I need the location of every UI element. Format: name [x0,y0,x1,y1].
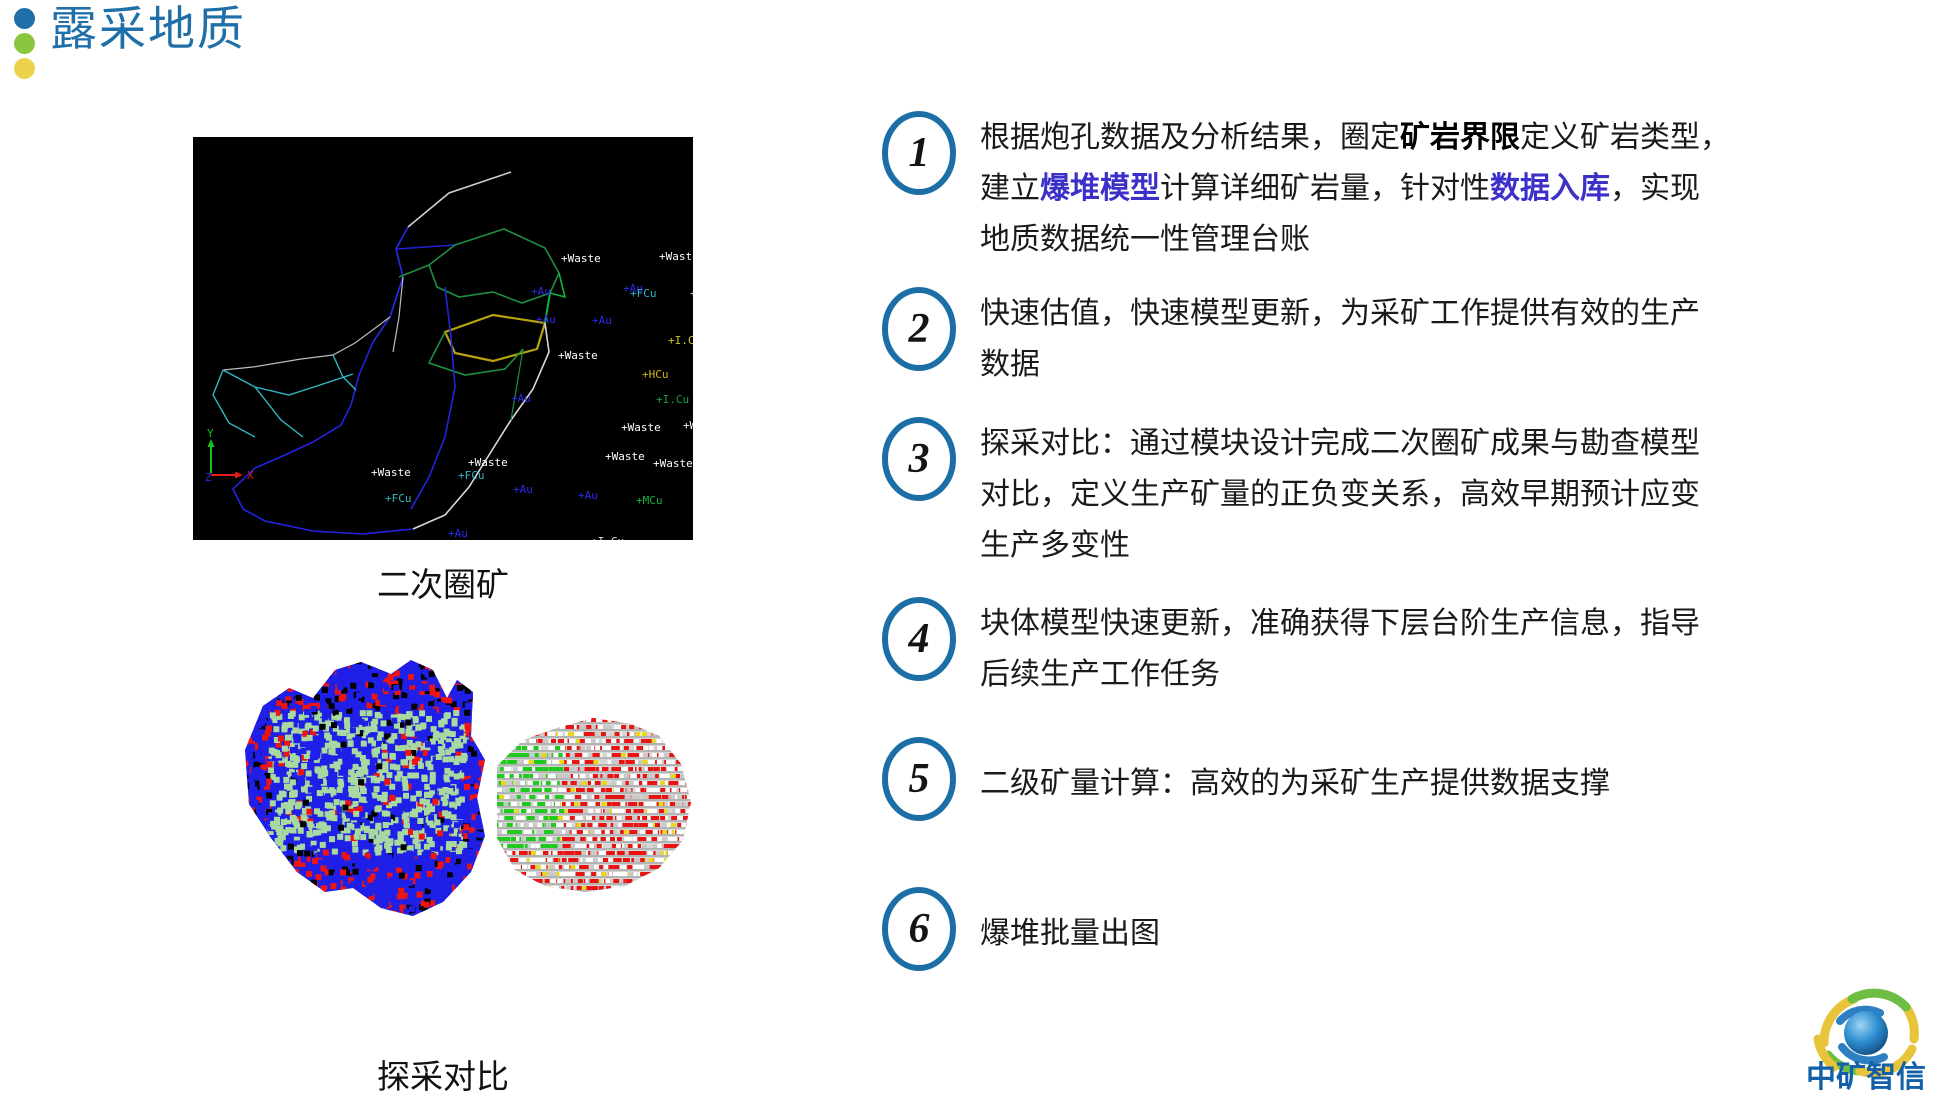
voxel [418,884,424,890]
voxel [634,809,639,813]
voxel [391,899,397,905]
voxel [568,809,573,813]
voxel [602,781,607,785]
voxel [628,844,633,848]
voxel [421,775,427,781]
bench-line [485,750,700,752]
bench-line [485,841,700,843]
voxel [435,836,441,842]
voxel [279,695,285,701]
voxel [468,758,474,764]
voxel [634,739,639,743]
voxel [596,809,601,813]
voxel [535,844,540,848]
voxel [646,830,651,834]
block-model-pair [185,640,705,940]
voxel [464,784,470,790]
voxel [596,788,601,792]
voxel [605,837,610,841]
voxel [382,795,388,801]
voxel [376,805,382,811]
header-dot-blue [14,8,35,29]
voxel [296,802,302,808]
cad-label: +Waste [683,419,693,432]
voxel [595,830,600,834]
voxel [640,858,645,862]
voxel [671,823,676,827]
voxel [301,857,307,863]
voxel [314,808,320,814]
voxel [499,795,504,799]
voxel [536,858,541,862]
voxel [266,726,272,732]
voxel [595,753,600,757]
voxel [407,880,413,886]
voxel [539,830,544,834]
voxel [413,773,419,779]
voxel [306,771,312,777]
voxel [288,804,294,810]
voxel [350,683,356,689]
voxel [516,781,521,785]
voxel [680,788,685,792]
voxel [591,718,596,722]
voxel [564,767,569,771]
voxel [345,703,351,709]
voxel [559,760,564,764]
voxel [629,732,634,736]
voxel [613,795,618,799]
voxel [461,842,467,848]
voxel [574,802,579,806]
voxel [567,823,572,827]
voxel [418,763,424,769]
voxel [562,788,567,792]
voxel [399,702,405,708]
voxel [359,812,365,818]
voxel [628,823,633,827]
voxel [402,759,408,765]
voxel [598,858,603,862]
cad-label: +Au [536,313,556,326]
voxel [676,802,681,806]
voxel [304,709,310,715]
bench-line [485,806,700,808]
voxel [528,837,533,841]
voxel [306,745,312,751]
voxel [364,827,370,833]
voxel [551,732,556,736]
voxel [629,725,634,729]
voxel [428,815,434,821]
voxel [442,756,448,762]
voxel [314,800,320,806]
voxel [657,746,662,750]
voxel [291,792,297,798]
voxel [681,823,686,827]
voxel [651,816,656,820]
voxel [429,884,435,890]
voxel [350,727,356,733]
voxel [366,795,372,801]
voxel [300,821,306,827]
voxel [277,825,283,831]
voxel [424,902,430,908]
voxel [367,877,373,883]
voxel [541,760,546,764]
voxel [315,874,321,880]
voxel [522,802,527,806]
voxel [530,858,535,862]
voxel [624,739,629,743]
voxel [524,760,529,764]
voxel [385,817,391,823]
voxel [576,795,581,799]
voxel [640,830,645,834]
voxel [570,816,575,820]
voxel [567,760,572,764]
voxel [657,739,662,743]
voxel [258,770,264,776]
voxel [652,753,657,757]
voxel [449,747,455,753]
voxel [292,727,298,733]
voxel [312,754,318,760]
voxel [270,821,276,827]
voxel [552,781,557,785]
voxel [358,771,364,777]
voxel [624,746,629,750]
voxel [585,760,590,764]
voxel [601,732,606,736]
voxel [640,788,645,792]
voxel [610,837,615,841]
voxel [518,858,523,862]
cad-label: +Waste [468,456,508,469]
voxel [680,809,685,813]
voxel [524,823,529,827]
voxel [572,781,577,785]
voxel [340,730,346,736]
voxel [329,836,335,842]
voxel [282,703,288,709]
cad-label: +I.Cu [591,535,624,540]
voxel [657,760,662,764]
voxel [457,864,463,870]
bench-line [485,820,700,822]
voxel [557,830,562,834]
voxel [655,788,660,792]
voxel [438,861,444,867]
voxel [336,748,342,754]
voxel [405,720,411,726]
voxel [353,869,359,875]
voxel [528,760,533,764]
voxel [614,774,619,778]
voxel [412,809,418,815]
voxel [634,781,639,785]
voxel [344,854,350,860]
voxel [630,760,635,764]
voxel [527,830,532,834]
voxel [642,732,647,736]
voxel [372,693,378,699]
voxel [325,802,331,808]
voxel [439,789,445,795]
voxel [382,761,388,767]
voxel [565,837,570,841]
voxel [643,753,648,757]
voxel [372,726,378,732]
voxel [558,753,563,757]
voxel [320,724,326,730]
voxel [649,795,654,799]
voxel [372,757,378,763]
voxel [401,844,407,850]
voxel [589,844,594,848]
voxel [553,753,558,757]
voxel [397,893,403,899]
voxel [264,803,270,809]
voxel [437,830,443,836]
voxel [280,834,286,840]
voxel [612,767,617,771]
voxel [380,699,386,705]
cad-label: +FCu [458,469,485,482]
voxel [393,685,399,691]
voxel [333,873,339,879]
voxel [652,781,657,785]
voxel [405,750,411,756]
voxel [389,795,395,801]
voxel [521,788,526,792]
voxel [632,802,637,806]
voxel [511,760,516,764]
voxel [352,840,358,846]
voxel [659,858,664,862]
voxel [573,858,578,862]
voxel [610,851,615,855]
voxel [533,774,538,778]
voxel [337,779,343,785]
voxel [511,830,516,834]
voxel [580,725,585,729]
voxel [334,799,340,805]
voxel [587,788,592,792]
voxel [558,844,563,848]
voxel [413,717,419,723]
voxel [358,779,364,785]
voxel [354,823,360,829]
voxel [619,760,624,764]
voxel [649,858,654,862]
voxel [450,877,456,883]
voxel [683,802,688,806]
voxel [411,704,417,710]
voxel [594,760,599,764]
voxel [632,795,637,799]
voxel [505,837,510,841]
voxel [373,839,379,845]
voxel [404,806,410,812]
voxel [321,823,327,829]
voxel [395,775,401,781]
voxel [579,830,584,834]
voxel [538,809,543,813]
voxel [600,788,605,792]
voxel [635,851,640,855]
voxel [654,858,659,862]
voxel [407,862,413,868]
voxel [290,755,296,761]
voxel [317,778,323,784]
voxel [383,767,389,773]
voxel [621,753,626,757]
voxel [544,739,549,743]
voxel [376,763,382,769]
voxel [544,788,549,792]
voxel [416,824,422,830]
voxel [424,792,430,798]
voxel [409,906,415,912]
voxel [546,781,551,785]
voxel [516,816,521,820]
voxel [339,696,345,702]
voxel [322,748,328,754]
voxel [677,816,682,820]
voxel [369,864,375,870]
voxel [361,867,367,873]
voxel [390,754,396,760]
voxel [306,871,312,877]
cad-label: +Waste [621,421,661,434]
voxel [424,784,430,790]
voxel [450,857,456,863]
voxel [602,802,607,806]
voxel [569,725,574,729]
voxel [400,745,406,751]
voxel [290,711,296,717]
voxel [570,837,575,841]
voxel [331,815,337,821]
voxel [290,779,296,785]
bench-line [485,855,700,857]
voxel [338,770,344,776]
voxel [642,844,647,848]
voxel [360,834,366,840]
voxel [250,790,256,796]
voxel [462,755,468,761]
voxel [350,881,356,887]
voxel [289,703,295,709]
voxel [553,767,558,771]
voxel [358,719,364,725]
voxel [669,781,674,785]
voxel [448,756,454,762]
voxel [403,681,409,687]
voxel [278,736,284,742]
voxel [614,858,619,862]
voxel [313,726,319,732]
voxel [542,753,547,757]
voxel [670,795,675,799]
voxel [534,746,539,750]
voxel [507,844,512,848]
voxel [583,809,588,813]
voxel [662,837,667,841]
voxel [621,767,626,771]
voxel [408,674,414,680]
voxel [505,774,510,778]
voxel [375,858,381,864]
voxel [375,712,381,718]
voxel [249,781,255,787]
voxel [412,759,418,765]
voxel [270,800,276,806]
voxel [591,802,596,806]
voxel [323,856,329,862]
voxel [660,816,665,820]
voxel [415,731,421,737]
voxel [513,767,518,771]
voxel [565,795,570,799]
voxel [504,767,509,771]
voxel [651,837,656,841]
voxel [517,830,522,834]
voxel [343,880,349,886]
voxel [582,781,587,785]
voxel [307,735,313,741]
voxel [421,873,427,879]
cad-label: +Au [448,527,468,540]
voxel [538,774,543,778]
voxel [519,844,524,848]
voxel [287,762,293,768]
voxel [606,739,611,743]
voxel [633,844,638,848]
voxel [508,781,513,785]
voxel [634,753,639,757]
voxel [615,788,620,792]
voxel [457,809,463,815]
cad-label: +I.Cu [690,287,693,300]
voxel [260,790,266,796]
voxel [526,809,531,813]
voxel [416,791,422,797]
voxel [386,772,392,778]
voxel [356,751,362,757]
voxel [543,816,548,820]
voxel [331,741,337,747]
voxel [380,707,386,713]
voxel [457,742,463,748]
voxel [638,802,643,806]
voxel [415,782,421,788]
voxel [410,795,416,801]
voxel [454,822,460,828]
cad-label: +Waste [659,250,693,263]
voxel [374,786,380,792]
voxel [576,823,581,827]
voxel [607,816,612,820]
voxel [438,721,444,727]
voxel [451,814,457,820]
voxel [587,837,592,841]
voxel [376,741,382,747]
voxel [293,819,299,825]
voxel [612,753,617,757]
voxel [325,793,331,799]
